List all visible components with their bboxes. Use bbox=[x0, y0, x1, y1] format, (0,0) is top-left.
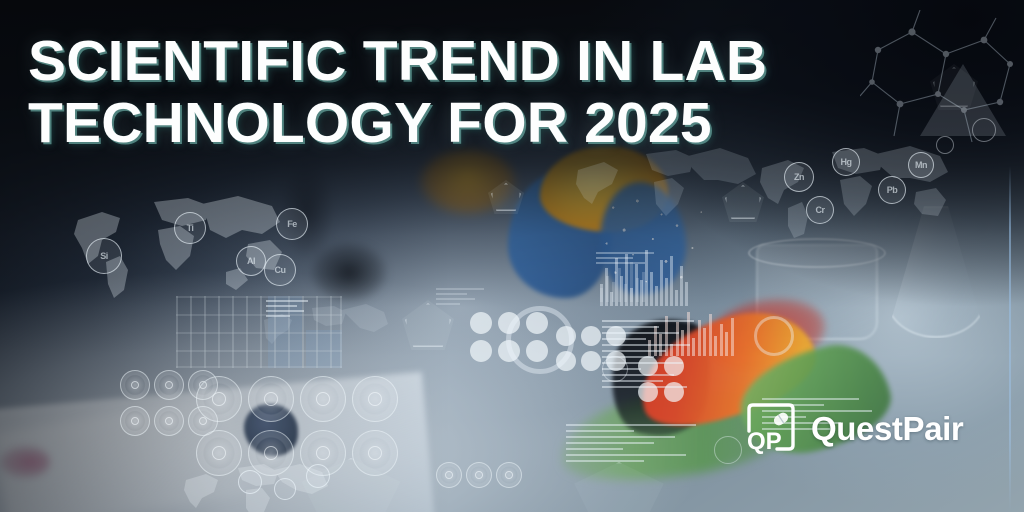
element-badge-fe: Fe bbox=[276, 208, 308, 240]
element-badge-ti: Ti bbox=[174, 212, 206, 244]
bar-chart-overlay-icon-c bbox=[600, 262, 645, 302]
target-ring-icon-b bbox=[754, 316, 794, 356]
well-plate-disc-grid-icon-large bbox=[196, 376, 396, 476]
page-title: SCIENTIFIC TREND IN LAB TECHNOLOGY FOR 2… bbox=[28, 30, 948, 154]
text-lines-overlay-d bbox=[566, 424, 696, 462]
text-lines-overlay-b bbox=[602, 320, 694, 388]
element-badge-si: Si bbox=[86, 238, 122, 274]
logo-monogram: QP bbox=[747, 428, 782, 455]
element-badge-cr: Cr bbox=[806, 196, 834, 224]
text-lines-overlay-a bbox=[266, 300, 308, 317]
quest-pair-square-mark-icon: QP bbox=[740, 400, 798, 458]
target-ring-icon bbox=[506, 306, 574, 374]
element-badge-zn: Zn bbox=[784, 162, 814, 192]
element-badge-pb: Pb bbox=[878, 176, 906, 204]
target-ring-icon-d bbox=[714, 436, 742, 464]
element-badge-al: Al bbox=[236, 246, 266, 276]
text-lines-overlay-f bbox=[436, 288, 484, 305]
element-badge-small-b bbox=[274, 478, 296, 500]
element-badge-cu: Cu bbox=[264, 254, 296, 286]
data-grid-overlay bbox=[176, 296, 342, 368]
logo-wordmark: QuestPair bbox=[811, 410, 963, 448]
node-ring-icon-a bbox=[972, 118, 996, 142]
well-plate-disc-grid-icon-small bbox=[436, 462, 520, 488]
banner: Si Ti Al Cu Fe Zn Hg Pb Mn Cr bbox=[0, 0, 1024, 512]
accent-edge-line bbox=[1009, 166, 1011, 512]
text-lines-overlay-e bbox=[596, 252, 660, 264]
quest-pair-logo[interactable]: QP QuestPair bbox=[740, 400, 963, 458]
